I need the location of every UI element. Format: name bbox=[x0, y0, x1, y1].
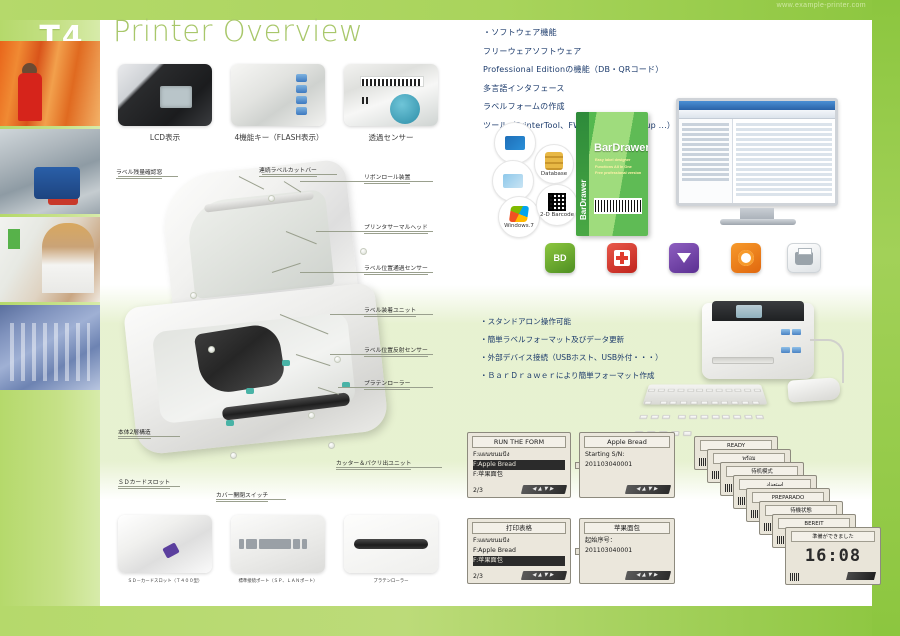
lcd-menu-list[interactable]: F:แผนขนมปัง F:Apple Bread F:苹果面包 bbox=[468, 536, 570, 566]
page-title: Printer Overview bbox=[113, 14, 363, 48]
monitor-screen bbox=[676, 98, 838, 206]
printer-label-slot bbox=[712, 357, 774, 364]
callout-dot bbox=[360, 248, 367, 255]
lcd-serial-label: 起始序号： bbox=[585, 536, 669, 546]
teal-clip bbox=[246, 388, 254, 394]
forklift-logistics-photo bbox=[0, 129, 100, 214]
bardrawer-box-bullets: Easy label designer Functions All In One… bbox=[595, 158, 645, 178]
bardrawer-bullet-3: Free professional version bbox=[595, 171, 645, 175]
lcd-panel-title: 苹果面包 bbox=[584, 522, 670, 534]
callout-dot bbox=[334, 356, 341, 363]
teal-clip bbox=[282, 360, 290, 366]
lcd-nav-keys[interactable]: ◀▲▼▶ bbox=[521, 571, 567, 580]
bottom-green-band bbox=[0, 606, 900, 636]
lcd-serial-label: Starting S/N: bbox=[585, 450, 669, 460]
settings-gear-icon bbox=[731, 243, 761, 273]
lcd-page-indicator: 2/3 bbox=[473, 573, 483, 580]
interface-ports-photo bbox=[231, 515, 325, 573]
bardrawer-product-box: BarDrawer BarDrawer Easy label designer … bbox=[576, 112, 648, 236]
callout-dot bbox=[308, 412, 315, 419]
lcd-panel-title: Apple Bread bbox=[584, 436, 670, 448]
utility-app-icons: BD bbox=[545, 243, 795, 281]
app-titlebar bbox=[679, 101, 835, 110]
callout-leader bbox=[262, 174, 337, 175]
lcd-apple-bread-panel[interactable]: Apple Bread Starting S/N: 201103040001 ◀… bbox=[579, 432, 675, 498]
lcd-menu-item-selected[interactable]: F:Apple Bread bbox=[473, 460, 565, 470]
scanner-cable bbox=[810, 339, 844, 383]
callout-dot bbox=[268, 195, 275, 202]
software-line-2: フリーウェアソフトウェア bbox=[483, 46, 783, 57]
retail-shelves-photo bbox=[0, 305, 100, 390]
monitor-base bbox=[720, 219, 796, 225]
callout-leader bbox=[338, 387, 433, 388]
lcd-page-indicator: 2/3 bbox=[473, 487, 483, 494]
bardrawer-spine-text: BarDrawer bbox=[579, 112, 588, 220]
lcd-run-the-form-panel[interactable]: RUN THE FORM F:แผนขนมปัง F:Apple Bread F… bbox=[467, 432, 571, 498]
callout-leader bbox=[316, 231, 433, 232]
warehouse-scanning-photo bbox=[0, 41, 100, 126]
callout-leader bbox=[330, 354, 433, 355]
lcd-menu-item[interactable]: F:แผนขนมปัง bbox=[473, 450, 565, 460]
callout-leader bbox=[330, 314, 433, 315]
top-card-caption-1: LCD表示 bbox=[118, 132, 212, 143]
windows-7-icon: Windows.7 bbox=[498, 196, 540, 238]
multilingual-lcd-stack: READY พร้อม 待机模式 استعداد PREPARADO 待機状態 … bbox=[694, 436, 884, 591]
function-keys-photo bbox=[231, 64, 325, 126]
lcd-serial-value[interactable]: 201103040001 bbox=[585, 460, 669, 470]
bardrawer-app-icon-label: BD bbox=[554, 253, 567, 263]
callout-dot bbox=[190, 292, 197, 299]
lcd-menu-list[interactable]: F:แผนขนมปัง F:Apple Bread F:苹果面包 bbox=[468, 450, 570, 480]
lcd-ready-label: 準備ができました bbox=[791, 531, 875, 542]
software-line-1: ・ソフトウェア機能 bbox=[483, 27, 783, 38]
bardrawer-bullet-2: Functions All In One bbox=[595, 165, 645, 169]
lcd-nav-keys bbox=[846, 572, 876, 580]
port-cluster bbox=[239, 537, 317, 551]
transmissive-sensor-photo bbox=[344, 64, 438, 126]
download-tool-icon bbox=[669, 243, 699, 273]
app-toolbar bbox=[679, 110, 835, 119]
bottom-card-caption-3: プラテンローラー bbox=[344, 578, 438, 584]
app-data-grid bbox=[733, 119, 835, 206]
bottom-feature-cards: ＳＤ－カードスロット（Ｔ４００型） 標準接続ポート（ＳＰ、ＬＡＮポート） プラテ… bbox=[118, 515, 448, 593]
app-body bbox=[679, 119, 835, 206]
top-card-caption-2: 4機能キー（FLASH表示） bbox=[222, 132, 336, 143]
software-screenshot-monitor bbox=[676, 98, 844, 226]
lcd-nav-keys[interactable]: ◀▲▼▶ bbox=[625, 571, 671, 580]
bottom-card-caption-1: ＳＤ－カードスロット（Ｔ４００型） bbox=[118, 578, 212, 584]
barcode-scanner bbox=[787, 377, 840, 403]
windows-xp-icon bbox=[494, 122, 536, 164]
photo-strip bbox=[0, 41, 100, 461]
lcd-apple-bread-panel-cn[interactable]: 苹果面包 起始序号： 201103040001 ◀▲▼▶ bbox=[579, 518, 675, 584]
printer-keypad bbox=[780, 323, 804, 359]
printer-overview-brochure: www.example-printer.com T4 Printer Overv… bbox=[0, 0, 900, 636]
bardrawer-bullet-1: Easy label designer bbox=[595, 158, 645, 162]
lcd-clock-time: 16:08 bbox=[786, 546, 880, 566]
pharmacy-healthcare-photo bbox=[0, 217, 100, 302]
app-design-panel bbox=[679, 119, 733, 206]
lcd-status-icon bbox=[790, 573, 799, 581]
callout-leader bbox=[336, 467, 442, 468]
barcode-label: 2-D Barcode bbox=[540, 212, 574, 218]
top-card-caption-3: 透過センサー bbox=[344, 132, 438, 143]
callout-dot bbox=[230, 452, 237, 459]
callout-leader bbox=[300, 181, 433, 182]
windows-7-label: Windows.7 bbox=[504, 223, 534, 229]
database-label: Database bbox=[541, 171, 567, 177]
teal-clip bbox=[226, 420, 234, 426]
software-line-4: 多言語インタフェース bbox=[483, 83, 783, 94]
callout-dot bbox=[328, 442, 335, 449]
top-feature-cards: LCD表示 4機能キー（FLASH表示） 透過センサー bbox=[118, 64, 448, 148]
lcd-nav-keys[interactable]: ◀▲▼▶ bbox=[521, 485, 567, 494]
function-key-cluster bbox=[296, 74, 312, 118]
bottom-card-caption-2: 標準接続ポート（ＳＰ、ＬＡＮポート） bbox=[231, 578, 325, 584]
lcd-menu-item[interactable]: F:Apple Bread bbox=[473, 546, 565, 556]
lcd-nav-keys[interactable]: ◀▲▼▶ bbox=[625, 485, 671, 494]
qr-code-icon: 2-D Barcode bbox=[536, 184, 578, 226]
first-aid-tool-icon bbox=[607, 243, 637, 273]
sd-card-slot-photo bbox=[118, 515, 212, 573]
database-icon: Database bbox=[534, 144, 574, 184]
keyboard bbox=[643, 384, 768, 404]
lcd-menu-item[interactable]: F:苹果面包 bbox=[473, 470, 565, 480]
printer-driver-icon bbox=[787, 243, 821, 273]
callout-leader bbox=[118, 436, 180, 437]
callout-leader bbox=[300, 272, 433, 273]
website-url: www.example-printer.com bbox=[777, 2, 866, 9]
printer-lcd-screen bbox=[736, 305, 762, 318]
bardrawer-box-title: BarDrawer bbox=[594, 142, 648, 154]
label-barcode-strip bbox=[360, 76, 424, 87]
printer-workstation-photo bbox=[640, 295, 880, 420]
lcd-serial-fields: Starting S/N: 201103040001 bbox=[580, 450, 674, 470]
software-line-3: Professional Editionの機能（DB・QRコード） bbox=[483, 64, 783, 75]
lcd-ready-final-clock: 準備ができました 16:08 bbox=[785, 527, 881, 585]
lcd-panel-title: RUN THE FORM bbox=[472, 436, 566, 448]
lcd-menu-item[interactable]: F:แผนขนมปัง bbox=[473, 536, 565, 546]
lcd-menu-item-selected[interactable]: F:苹果面包 bbox=[473, 556, 565, 566]
callout-leader bbox=[118, 486, 180, 487]
callout-leader bbox=[216, 499, 286, 500]
bardrawer-box-barcode bbox=[594, 198, 642, 214]
callout-dot bbox=[208, 346, 215, 353]
platen-roller-photo bbox=[344, 515, 438, 573]
callout-leader bbox=[118, 176, 178, 177]
lcd-print-form-panel-cn[interactable]: 打印表格 F:แผนขนมปัง F:Apple Bread F:苹果面包 2/… bbox=[467, 518, 571, 584]
lcd-panel-title: 打印表格 bbox=[472, 522, 566, 534]
lcd-display-photo bbox=[118, 64, 212, 126]
lcd-serial-fields: 起始序号： 201103040001 bbox=[580, 536, 674, 556]
lcd-serial-value[interactable]: 201103040001 bbox=[585, 546, 669, 556]
bardrawer-box-spine: BarDrawer bbox=[576, 112, 589, 236]
bardrawer-app-icon: BD bbox=[545, 243, 575, 273]
